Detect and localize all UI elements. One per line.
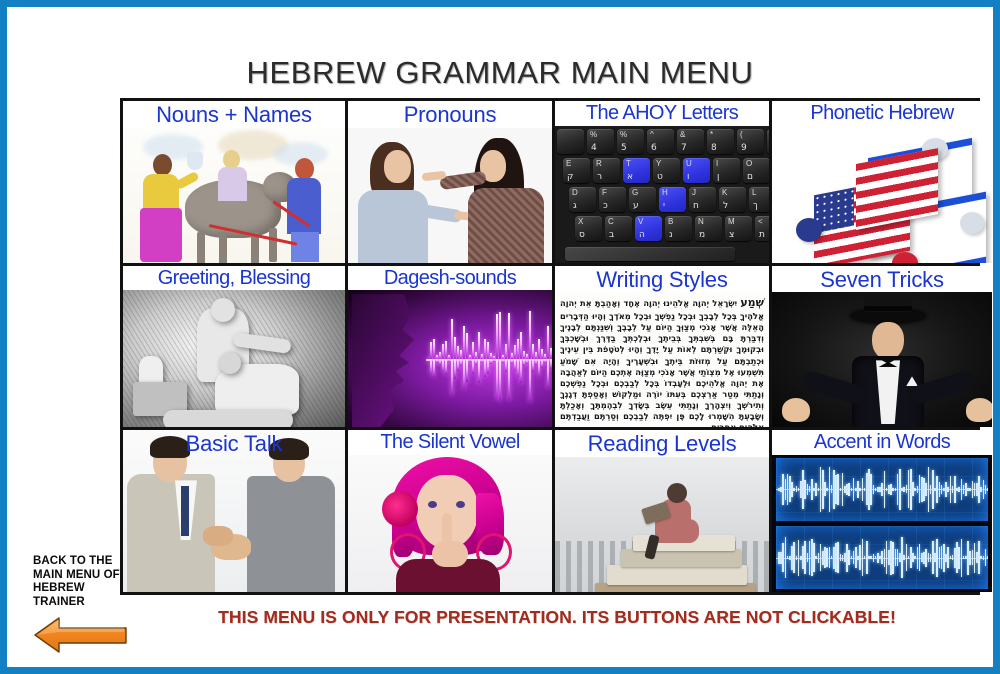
keyboard-row-4: XסCבVהBנNמMצ<ת bbox=[575, 216, 769, 241]
waveform-bar bbox=[430, 359, 432, 374]
menu-item-label: Dagesh-sounds bbox=[348, 266, 552, 291]
left-arrow-icon[interactable] bbox=[33, 615, 129, 655]
keyboard-key: Vה bbox=[635, 216, 662, 241]
caravan-illustration bbox=[123, 128, 345, 263]
waveform-bar bbox=[517, 339, 519, 359]
waveform-bar bbox=[445, 341, 447, 358]
waveform-bar bbox=[535, 359, 537, 365]
shushing-woman-photo bbox=[348, 455, 552, 592]
waveform-bar bbox=[451, 359, 453, 395]
magician-photo bbox=[772, 292, 992, 427]
waveform-bar bbox=[511, 359, 513, 364]
menu-grid: Nouns + Names bbox=[120, 98, 980, 595]
waveform-bar bbox=[529, 359, 531, 403]
usa-israel-puzzle-photo bbox=[772, 126, 992, 263]
menu-item-silent-vowel[interactable]: The Silent Vowel bbox=[348, 430, 552, 592]
keyboard-key: %5 bbox=[617, 129, 644, 154]
hebrew-keyboard-photo: %4%5^6&7*8(9)0 EקRרTאYטUוIןOם DגFכGעHיJח… bbox=[555, 126, 769, 263]
keyboard-key: Cב bbox=[605, 216, 632, 241]
waveform-bar bbox=[547, 359, 549, 389]
waveform-bar bbox=[454, 337, 456, 359]
menu-item-writing-styles[interactable]: Writing Styles שְׁמַע יִשְׂרָאֵל יְהוָה … bbox=[555, 266, 769, 428]
keyboard-key: %4 bbox=[587, 129, 614, 154]
keyboard-row-2: EקRרTאYטUוIןOם bbox=[563, 158, 769, 183]
waveform-bar bbox=[454, 359, 456, 379]
waveform-bar bbox=[496, 314, 498, 358]
waveform-bar bbox=[451, 319, 453, 359]
waveform-bars bbox=[348, 290, 552, 427]
menu-item-nouns-names[interactable]: Nouns + Names bbox=[123, 101, 345, 263]
keyboard-key bbox=[557, 129, 584, 154]
waveform-bar bbox=[478, 359, 480, 383]
menu-item-basic-talk[interactable]: Basic Talk bbox=[123, 430, 345, 592]
waveform-bar bbox=[541, 359, 543, 368]
waveform-bar bbox=[535, 352, 537, 359]
hebrew-torah-text-image: שְׁמַע יִשְׂרָאֵל יְהוָה אֱלֹהֵינוּ יְהו… bbox=[555, 292, 769, 427]
waveform-bar bbox=[463, 359, 465, 389]
waveform-bar bbox=[478, 332, 480, 358]
keyboard-key: Fכ bbox=[599, 187, 626, 212]
waveform-bar bbox=[532, 359, 534, 372]
waveform-bar bbox=[502, 359, 504, 363]
menu-item-dagesh-sounds[interactable]: Dagesh-sounds bbox=[348, 266, 552, 428]
keyboard-key: Jח bbox=[689, 187, 716, 212]
waveform-bar bbox=[460, 350, 462, 358]
keyboard-key: Kל bbox=[719, 187, 746, 212]
menu-item-label: Nouns + Names bbox=[123, 101, 345, 128]
warning-text: THIS MENU IS ONLY FOR PRESENTATION. ITS … bbox=[127, 607, 987, 628]
waveform-bar bbox=[484, 339, 486, 359]
waveform-bar bbox=[433, 359, 435, 377]
keyboard-key: Oם bbox=[743, 158, 769, 183]
menu-item-accent-in-words[interactable]: Accent in Words bbox=[772, 430, 992, 592]
blue-waveform-image bbox=[772, 455, 992, 592]
menu-item-pronouns[interactable]: Pronouns bbox=[348, 101, 552, 263]
waveform-bar bbox=[442, 359, 444, 372]
keyboard-key: <ת bbox=[755, 216, 769, 241]
waveform-bar bbox=[538, 359, 540, 377]
waveform-bar bbox=[523, 351, 525, 359]
waveform-bar bbox=[481, 359, 483, 364]
waveform-bar bbox=[987, 556, 988, 559]
menu-item-label: Phonetic Hebrew bbox=[772, 101, 992, 126]
waveform-bar bbox=[544, 359, 546, 363]
menu-item-label: Greeting, Blessing bbox=[123, 266, 345, 291]
waveform-bar bbox=[457, 346, 459, 359]
reader-on-books-photo bbox=[555, 457, 769, 592]
keyboard-key: *8 bbox=[707, 129, 734, 154]
keyboard-key: Rר bbox=[593, 158, 620, 183]
purple-profile-waveform-image bbox=[348, 290, 552, 427]
menu-item-seven-tricks[interactable]: Seven Tricks bbox=[772, 266, 992, 428]
keyboard-key: Uו bbox=[683, 158, 710, 183]
waveform-bar bbox=[499, 359, 501, 401]
menu-item-label: Basic Talk bbox=[123, 432, 345, 456]
keyboard-key: Mצ bbox=[725, 216, 752, 241]
keyboard-key: Eק bbox=[563, 158, 590, 183]
waveform-bar bbox=[490, 359, 492, 364]
keyboard-key: Lך bbox=[749, 187, 769, 212]
keyboard-key: Xס bbox=[575, 216, 602, 241]
waveform-bar bbox=[538, 339, 540, 358]
waveform-bar bbox=[472, 342, 474, 359]
keyboard-row-3: DגFכGעHיJחKלLך bbox=[569, 187, 769, 212]
keyboard-key: ^6 bbox=[647, 129, 674, 154]
keyboard-key: Dג bbox=[569, 187, 596, 212]
torah-opening-word: שְׁמַע bbox=[740, 296, 764, 309]
menu-item-label: The Silent Vowel bbox=[348, 430, 552, 455]
waveform-bar bbox=[475, 352, 477, 359]
waveform-bar bbox=[508, 313, 510, 359]
keyboard-key: Tא bbox=[623, 158, 650, 183]
keyboard-key: Gע bbox=[629, 187, 656, 212]
keyboard-key: )0 bbox=[767, 129, 769, 154]
waveform-bar bbox=[526, 359, 528, 364]
waveform-bar bbox=[448, 359, 450, 362]
waveform-bar bbox=[517, 359, 519, 377]
waveform-bar bbox=[547, 326, 549, 359]
menu-item-label: Reading Levels bbox=[555, 430, 769, 457]
waveform-bar bbox=[466, 333, 468, 359]
waveform-bar bbox=[469, 359, 471, 362]
menu-item-reading-levels[interactable]: Reading Levels bbox=[555, 430, 769, 592]
waveform-bar bbox=[430, 342, 432, 359]
menu-item-ahoy-letters[interactable]: The AHOY Letters %4%5^6&7*8(9)0 EקRרTאYט… bbox=[555, 101, 769, 263]
keyboard-key: Bנ bbox=[665, 216, 692, 241]
waveform-bar bbox=[520, 359, 522, 383]
waveform-bar bbox=[987, 488, 988, 491]
menu-item-label: Seven Tricks bbox=[772, 266, 992, 293]
waveform-bar bbox=[493, 359, 495, 362]
waveform-bar bbox=[487, 342, 489, 359]
waveform-bar bbox=[529, 311, 531, 359]
waveform-bar bbox=[463, 326, 465, 359]
keyboard-key: &7 bbox=[677, 129, 704, 154]
waveform-bar bbox=[460, 359, 462, 367]
waveform-bar bbox=[445, 359, 447, 375]
page-title: HEBREW GRAMMAR MAIN MENU bbox=[7, 55, 993, 91]
waveform-bar bbox=[487, 359, 489, 374]
waveform-bar bbox=[499, 312, 501, 359]
torah-body-text: יִשְׂרָאֵל יְהוָה אֱלֹהֵינוּ יְהוָה אֶחָ… bbox=[560, 298, 764, 427]
waveform-bar bbox=[541, 349, 543, 359]
waveform-bar bbox=[523, 359, 525, 367]
waveform-bar bbox=[439, 352, 441, 359]
pointing-women-photo bbox=[348, 128, 552, 263]
waveform-bar bbox=[496, 359, 498, 399]
menu-item-label: The AHOY Letters bbox=[555, 101, 769, 126]
waveform-bar bbox=[505, 359, 507, 372]
menu-item-phonetic-hebrew[interactable]: Phonetic Hebrew bbox=[772, 101, 992, 263]
menu-item-label: Accent in Words bbox=[772, 430, 992, 455]
keyboard-key: Nמ bbox=[695, 216, 722, 241]
waveform-bar bbox=[520, 332, 522, 358]
waveform-bar bbox=[439, 359, 441, 366]
keyboard-key: Iן bbox=[713, 158, 740, 183]
waveform-bar bbox=[436, 359, 438, 363]
waveform-bar bbox=[514, 359, 516, 371]
back-navigation[interactable]: BACK TO THE MAIN MENU OF HEBREW TRAINER bbox=[33, 555, 129, 655]
keyboard-key: (9 bbox=[737, 129, 764, 154]
menu-item-label: Pronouns bbox=[348, 101, 552, 128]
waveform-bar bbox=[550, 348, 552, 359]
keyboard-key: Yט bbox=[653, 158, 680, 183]
keyboard-row-1: %4%5^6&7*8(9)0 bbox=[557, 129, 769, 154]
waveform-bar bbox=[466, 359, 468, 382]
keyboard-key: Hי bbox=[659, 187, 686, 212]
waveform-bar bbox=[508, 359, 510, 400]
waveform-bar bbox=[472, 359, 474, 375]
menu-item-label: Writing Styles bbox=[555, 266, 769, 293]
waveform-bar bbox=[457, 359, 459, 371]
presentation-slide: HEBREW GRAMMAR MAIN MENU Nouns + Names bbox=[0, 0, 1000, 674]
menu-item-greeting-blessing[interactable]: Greeting, Blessing bbox=[123, 266, 345, 428]
back-label: BACK TO THE MAIN MENU OF HEBREW TRAINER bbox=[33, 555, 129, 609]
waveform-bar bbox=[442, 344, 444, 359]
waveform-bar bbox=[514, 345, 516, 358]
waveform-bar bbox=[550, 359, 552, 369]
keyboard-spacebar bbox=[565, 247, 735, 261]
biblical-engraving-image bbox=[123, 290, 345, 427]
waveform-bar bbox=[505, 344, 507, 359]
waveform-bar bbox=[484, 359, 486, 377]
waveform-bar bbox=[433, 339, 435, 359]
waveform-bar bbox=[475, 359, 477, 365]
waveform-bar bbox=[532, 344, 534, 359]
